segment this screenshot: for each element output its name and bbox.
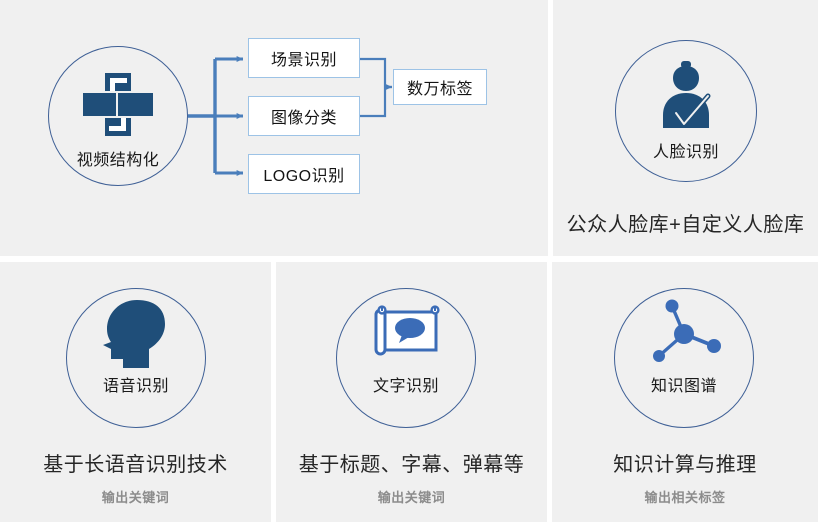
panel-text-recognition: 文字识别 基于标题、字幕、弹幕等 输出关键词 xyxy=(276,262,547,522)
video-structuring-icon xyxy=(83,73,153,139)
text-recognition-caption: 基于标题、字幕、弹幕等 xyxy=(276,448,547,477)
speech-recognition-caption: 基于长语音识别技术 xyxy=(0,448,271,477)
knowledge-graph-circle-label: 知识图谱 xyxy=(614,372,754,396)
flow-box-logo-recognition[interactable]: LOGO识别 xyxy=(248,154,360,194)
face-recognition-icon xyxy=(648,58,724,134)
face-recognition-circle-label: 人脸识别 xyxy=(615,138,757,162)
flow-box-label: 场景识别 xyxy=(271,46,337,70)
flow-box-label: 数万标签 xyxy=(407,75,473,99)
knowledge-graph-icon xyxy=(644,294,726,374)
face-recognition-caption: 公众人脸库+自定义人脸库 xyxy=(553,208,818,237)
banner-speech-bubble-icon xyxy=(370,302,446,368)
panel-speech-recognition: 语音识别 基于长语音识别技术 输出关键词 xyxy=(0,262,271,522)
speech-recognition-subcaption: 输出关键词 xyxy=(0,487,271,506)
knowledge-graph-caption: 知识计算与推理 xyxy=(552,448,818,477)
flow-box-label: 图像分类 xyxy=(271,104,337,128)
panel-face-recognition: 人脸识别 公众人脸库+自定义人脸库 xyxy=(553,0,818,256)
flow-box-image-classification[interactable]: 图像分类 xyxy=(248,96,360,136)
speech-head-icon xyxy=(99,297,173,369)
flow-box-tens-of-thousands-tags[interactable]: 数万标签 xyxy=(393,69,487,105)
flow-box-label: LOGO识别 xyxy=(263,162,344,186)
knowledge-graph-subcaption: 输出相关标签 xyxy=(552,487,818,506)
text-recognition-subcaption: 输出关键词 xyxy=(276,487,547,506)
panel-knowledge-graph: 知识图谱 知识计算与推理 输出相关标签 xyxy=(552,262,818,522)
capability-overview-board: 视频结构化 场景识别 图像分类 LOGO识别 xyxy=(0,0,818,522)
speech-recognition-circle-label: 语音识别 xyxy=(66,372,206,396)
flow-box-scene-recognition[interactable]: 场景识别 xyxy=(248,38,360,78)
text-recognition-circle-label: 文字识别 xyxy=(336,372,476,396)
panel-video-structuring: 视频结构化 场景识别 图像分类 LOGO识别 xyxy=(0,0,548,256)
video-structuring-circle-label: 视频结构化 xyxy=(48,146,188,170)
